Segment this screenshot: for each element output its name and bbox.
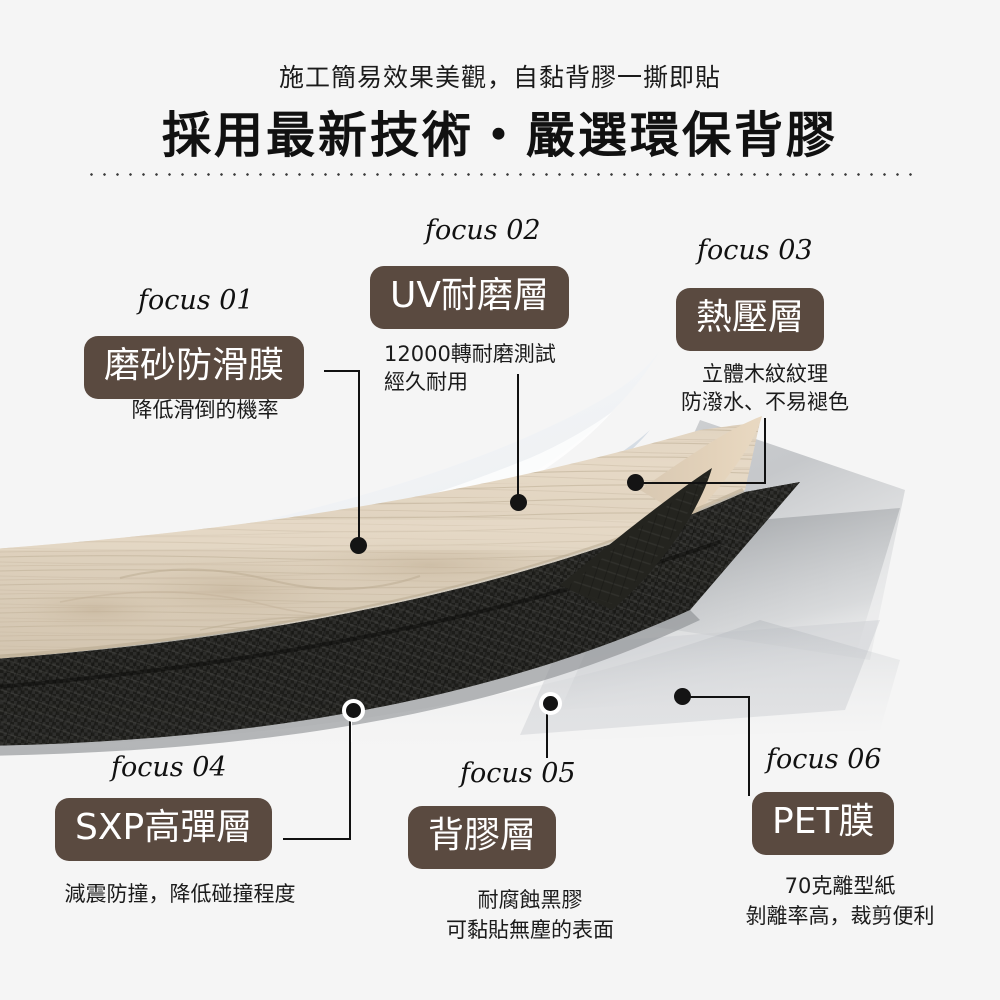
badge-layer-03[interactable]: 熱壓層 bbox=[676, 288, 824, 351]
desc-layer-01: 降低滑倒的機率 bbox=[55, 396, 355, 424]
leader-line-01-v bbox=[358, 370, 360, 548]
leader-line-04-h bbox=[283, 838, 351, 840]
desc-layer-04: 減震防撞，降低碰撞程度 bbox=[5, 880, 355, 908]
focus-label-06: focus 06 bbox=[766, 744, 882, 775]
focus-label-02: focus 02 bbox=[425, 215, 541, 246]
leader-dot-05 bbox=[539, 692, 562, 715]
leader-dot-03 bbox=[627, 474, 644, 491]
dotted-divider bbox=[85, 173, 913, 176]
page-title: 採用最新技術・嚴選環保背膠 bbox=[0, 96, 1000, 167]
desc-layer-06-line1: 70克離型紙 bbox=[690, 872, 990, 900]
leader-line-03-v bbox=[764, 418, 766, 484]
badge-layer-04[interactable]: SXP高彈層 bbox=[55, 798, 272, 861]
desc-layer-02-line1: 12000轉耐磨測試 bbox=[384, 340, 556, 368]
desc-layer-06-line2: 剝離率高，裁剪便利 bbox=[690, 902, 990, 930]
badge-layer-01[interactable]: 磨砂防滑膜 bbox=[84, 336, 304, 399]
desc-layer-05-line1: 耐腐蝕黑膠 bbox=[385, 886, 675, 914]
leader-dot-02 bbox=[510, 494, 527, 511]
desc-layer-05-line2: 可黏貼無塵的表面 bbox=[385, 916, 675, 944]
leader-line-04-v bbox=[349, 706, 351, 840]
focus-label-03: focus 03 bbox=[697, 235, 813, 266]
page-subtitle: 施工簡易效果美觀，自黏背膠一撕即貼 bbox=[0, 58, 1000, 94]
focus-label-01: focus 01 bbox=[138, 285, 254, 316]
infographic-page: 施工簡易效果美觀，自黏背膠一撕即貼 採用最新技術・嚴選環保背膠 bbox=[0, 0, 1000, 1000]
leader-dot-04 bbox=[342, 699, 365, 722]
leader-line-02-v bbox=[517, 374, 519, 506]
focus-label-04: focus 04 bbox=[111, 752, 227, 783]
leader-line-06-v bbox=[748, 696, 750, 796]
focus-label-05: focus 05 bbox=[460, 758, 576, 789]
leader-dot-01 bbox=[350, 537, 367, 554]
leader-line-03-h bbox=[640, 482, 766, 484]
leader-line-06-h bbox=[690, 696, 750, 698]
desc-layer-03-line2: 防潑水、不易褪色 bbox=[620, 388, 910, 416]
desc-layer-03-line1: 立體木紋紋理 bbox=[620, 360, 910, 388]
desc-layer-02-line2: 經久耐用 bbox=[384, 368, 468, 396]
badge-layer-02[interactable]: UV耐磨層 bbox=[370, 266, 569, 329]
leader-line-01-h bbox=[324, 370, 360, 372]
leader-dot-06 bbox=[674, 688, 691, 705]
badge-layer-06[interactable]: PET膜 bbox=[752, 792, 894, 855]
badge-layer-05[interactable]: 背膠層 bbox=[408, 806, 556, 869]
